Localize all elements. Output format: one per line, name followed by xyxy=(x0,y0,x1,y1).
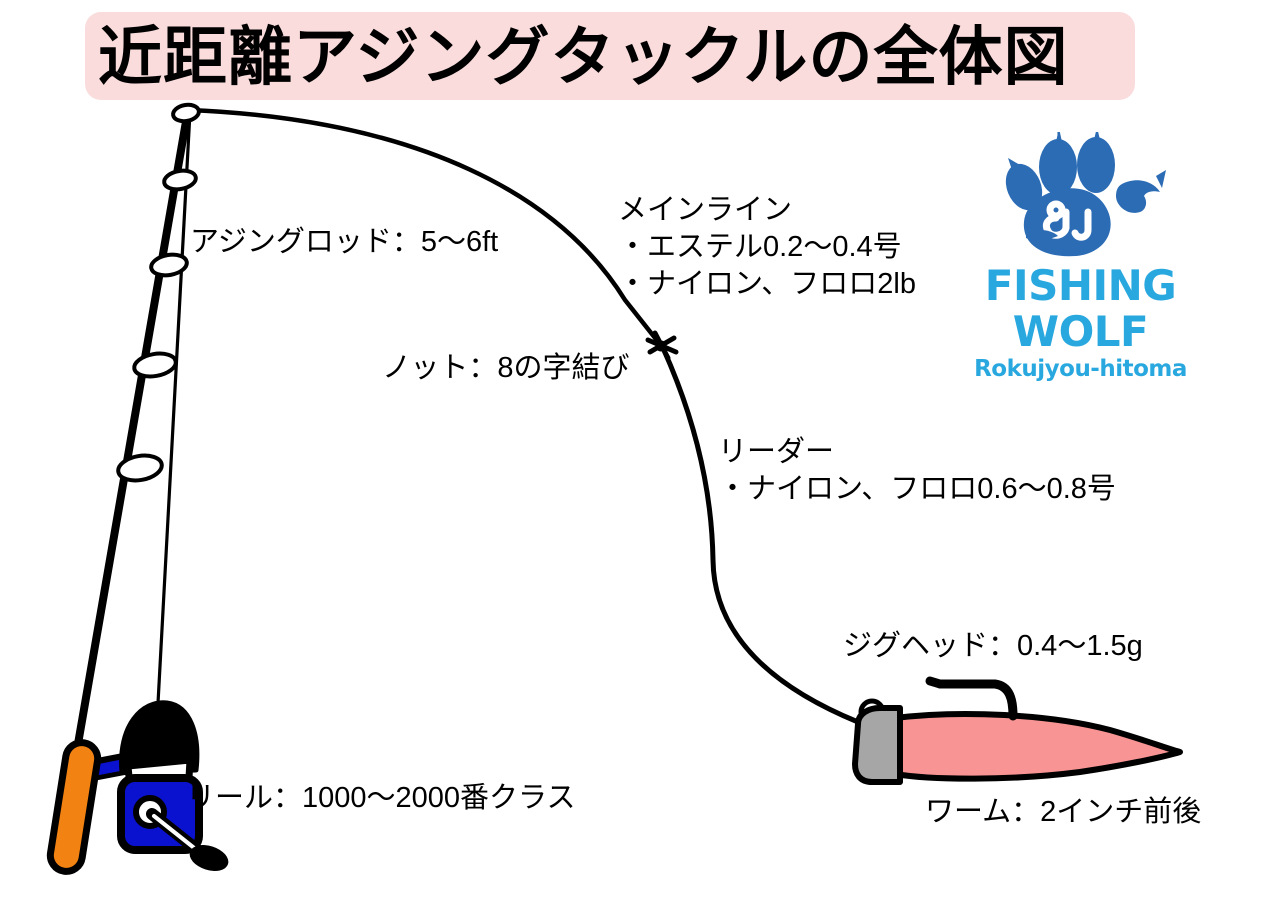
label-rod: アジングロッド：5〜6ft xyxy=(190,224,498,261)
logo-line-1: FISHING xyxy=(968,264,1193,308)
label-worm: ワーム：2インチ前後 xyxy=(925,794,1201,831)
leader-line xyxy=(663,348,858,722)
logo-line-2: WOLF xyxy=(968,310,1193,354)
tackle-diagram-canvas: 近距離アジングタックルの全体図 xyxy=(0,0,1280,906)
hook-point xyxy=(930,681,940,684)
logo-line-3: Rokujyou-hitoma xyxy=(968,356,1193,382)
brand-logo: FISHING WOLF Rokujyou-hitoma xyxy=(968,132,1193,370)
soft-plastic-worm xyxy=(895,714,1180,779)
label-main-line-heading: メインライン xyxy=(618,192,916,229)
label-reel: リール：1000〜2000番クラス xyxy=(186,780,575,817)
label-main-line: メインライン ・エステル0.2〜0.4号 ・ナイロン、フロロ2lb xyxy=(618,192,916,303)
label-leader-item-1: ・ナイロン、フロロ0.6〜0.8号 xyxy=(718,471,1116,508)
lure-assembly xyxy=(855,681,1180,782)
label-leader: リーダー ・ナイロン、フロロ0.6〜0.8号 xyxy=(718,434,1116,508)
label-jig-head: ジグヘッド：0.4〜1.5g xyxy=(843,628,1143,665)
wolf-paw-with-fish-icon xyxy=(996,132,1166,267)
jig-head xyxy=(855,708,900,782)
label-main-line-item-2: ・ナイロン、フロロ2lb xyxy=(618,266,916,303)
label-knot: ノット：8の字結び xyxy=(382,350,630,387)
label-main-line-item-1: ・エステル0.2〜0.4号 xyxy=(618,229,916,266)
label-leader-heading: リーダー xyxy=(718,434,1116,471)
rod-grip xyxy=(48,740,100,873)
